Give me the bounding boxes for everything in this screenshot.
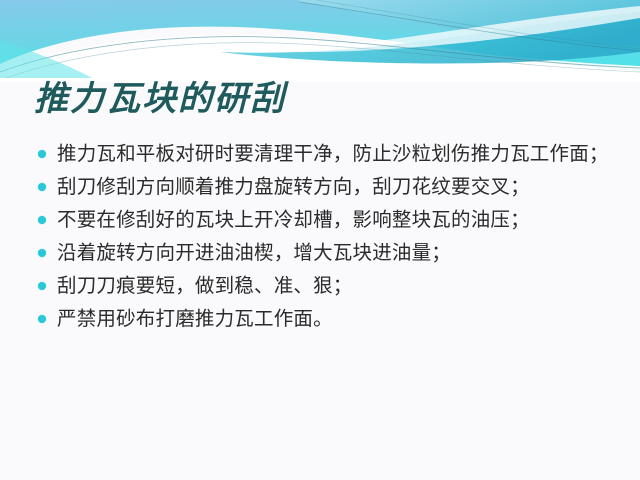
list-item: 严禁用砂布打磨推力瓦工作面。: [30, 305, 626, 334]
list-item-text: 不要在修刮好的瓦块上开冷却槽，影响整块瓦的油压；: [57, 206, 626, 235]
presentation-slide: 推力瓦块的研刮 推力瓦和平板对研时要清理干净，防止沙粒划伤推力瓦工作面； 刮刀修…: [0, 0, 640, 480]
list-item: 刮刀刀痕要短，做到稳、准、狠；: [30, 272, 626, 301]
bullet-dot-icon: [38, 315, 46, 323]
bullet-dot-icon: [38, 183, 46, 191]
list-item: 沿着旋转方向开进油油楔，增大瓦块进油量；: [30, 239, 626, 268]
bullet-dot-icon: [38, 216, 46, 224]
list-item: 刮刀修刮方向顺着推力盘旋转方向，刮刀花纹要交叉；: [30, 173, 626, 202]
wave-banner: [0, 0, 640, 82]
list-item-text: 刮刀修刮方向顺着推力盘旋转方向，刮刀花纹要交叉；: [57, 173, 626, 202]
list-item-text: 刮刀刀痕要短，做到稳、准、狠；: [57, 272, 626, 301]
list-item: 推力瓦和平板对研时要清理干净，防止沙粒划伤推力瓦工作面；: [30, 140, 626, 169]
bullet-dot-icon: [38, 150, 46, 158]
wave-banner-graphic: [0, 0, 640, 82]
bullet-dot-icon: [38, 282, 46, 290]
list-item-text: 沿着旋转方向开进油油楔，增大瓦块进油量；: [57, 239, 626, 268]
bullet-list: 推力瓦和平板对研时要清理干净，防止沙粒划伤推力瓦工作面； 刮刀修刮方向顺着推力盘…: [30, 140, 626, 334]
list-item-text: 推力瓦和平板对研时要清理干净，防止沙粒划伤推力瓦工作面；: [57, 140, 626, 169]
list-item-text: 严禁用砂布打磨推力瓦工作面。: [57, 305, 626, 334]
bullet-dot-icon: [38, 249, 46, 257]
list-item: 不要在修刮好的瓦块上开冷却槽，影响整块瓦的油压；: [30, 206, 626, 235]
slide-title: 推力瓦块的研刮: [34, 78, 594, 122]
